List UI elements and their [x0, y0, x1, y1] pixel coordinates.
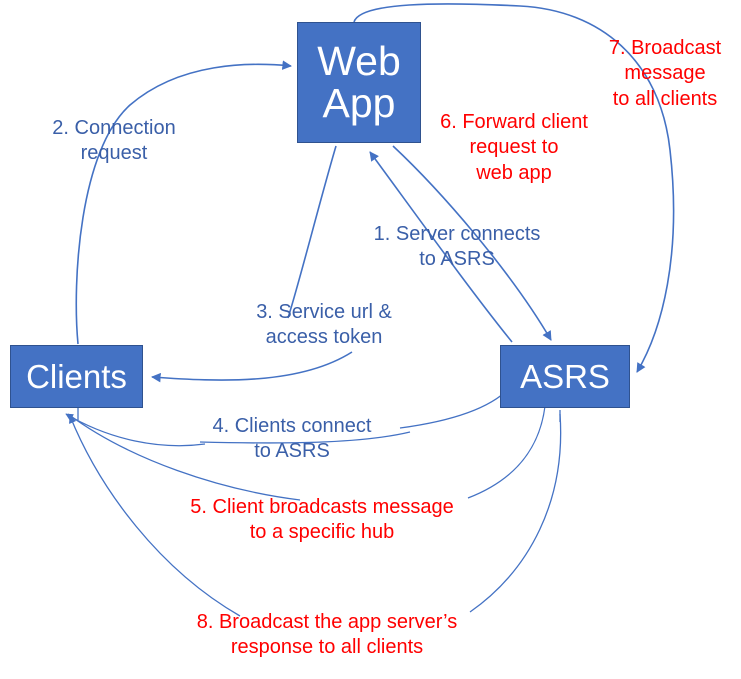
- edge-path-8: [470, 414, 561, 612]
- edge-label-4: 4. Clients connect to ASRS: [196, 414, 388, 465]
- edge-path-4b: [400, 380, 516, 428]
- node-asrs[interactable]: ASRS: [500, 345, 630, 408]
- edge-label-8: 8. Broadcast the app server’s response t…: [172, 610, 482, 661]
- edge-label-3: 3. Service url & access token: [239, 300, 409, 351]
- edge-label-6: 6. Forward client request to web app: [424, 110, 604, 186]
- node-web-app[interactable]: Web App: [297, 22, 421, 143]
- node-clients[interactable]: Clients: [10, 345, 143, 408]
- edge-path-4-return: [66, 414, 205, 446]
- node-web-app-label: Web App: [317, 41, 401, 125]
- edge-label-1: 1. Server connects to ASRS: [359, 222, 555, 273]
- edge-path-3: [152, 352, 352, 380]
- architecture-diagram: Web App Clients ASRS 1. Server connects …: [0, 0, 741, 679]
- edge-path-3-feed: [288, 146, 336, 318]
- node-clients-label: Clients: [26, 360, 127, 394]
- node-asrs-label: ASRS: [520, 360, 610, 394]
- edge-label-7: 7. Broadcast message to all clients: [592, 36, 738, 112]
- edge-label-5: 5. Client broadcasts message to a specif…: [172, 495, 472, 546]
- edge-label-2: 2. Connection request: [26, 116, 202, 167]
